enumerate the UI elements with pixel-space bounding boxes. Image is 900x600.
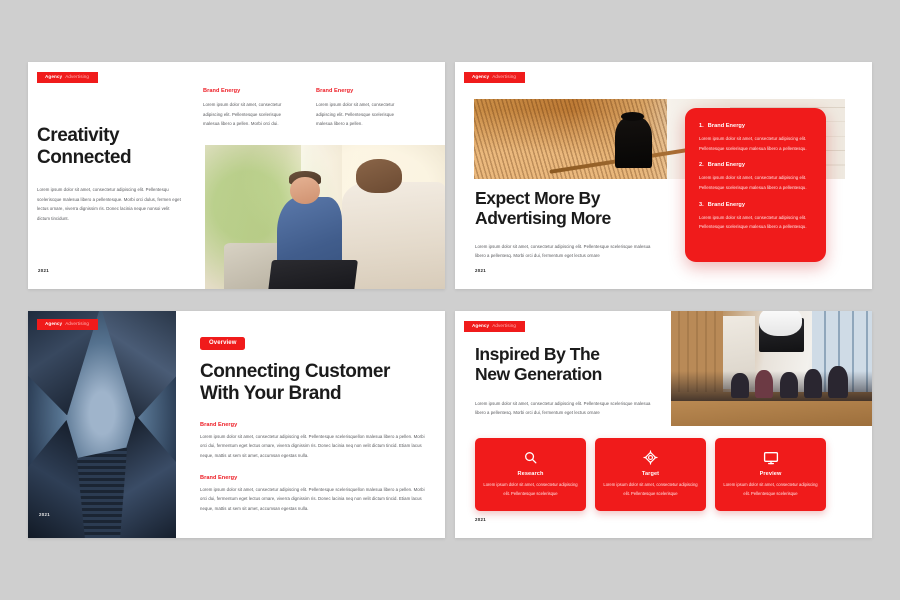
feature-tile-preview[interactable]: Preview Lorem ipsum dolor sit amet, cons…: [715, 438, 826, 511]
section-body-2: Lorem ipsum dolor sit amet, consectetur …: [200, 485, 430, 514]
slide-expect-more-by-advertising-more[interactable]: Agency Advertising Expect More By Advert…: [455, 62, 872, 289]
page-title-line-2: Advertising More: [475, 208, 675, 228]
brand-logo: Agency Advertising: [464, 72, 525, 83]
page-title-line-2: New Generation: [475, 364, 665, 384]
intro-paragraph: Lorem ipsum dolor sit amet, consectetur …: [475, 399, 653, 418]
feature-heading: Brand Energy: [708, 162, 745, 168]
slide-deck-preview-grid: Agency Advertising Creativity Connected …: [0, 0, 900, 600]
page-title-line-1: Inspired By The: [475, 344, 665, 364]
page-title-line-1: Expect More By: [475, 188, 675, 208]
tile-title: Research: [483, 471, 578, 477]
feature-item: 3. Brand Energy Lorem ipsum dolor sit am…: [699, 202, 812, 232]
tile-title: Preview: [723, 471, 818, 477]
year-mark: 2021: [475, 268, 486, 273]
content-section: Brand Energy Lorem ipsum dolor sit amet,…: [200, 475, 430, 514]
slide-creativity-connected[interactable]: Agency Advertising Creativity Connected …: [28, 62, 445, 289]
section-body-1: Lorem ipsum dolor sit amet, consectetur …: [200, 432, 430, 461]
page-title-line-2: With Your Brand: [200, 383, 430, 405]
feature-body: Lorem ipsum dolor sit amet, consectetur …: [699, 173, 812, 192]
year-mark: 2021: [475, 517, 486, 522]
intro-paragraph: Lorem ipsum dolor sit amet, consectetur …: [475, 242, 657, 261]
feature-heading: Brand Energy: [708, 123, 745, 129]
content-section: Brand Energy Lorem ipsum dolor sit amet,…: [200, 422, 430, 461]
tile-body: Lorem ipsum dolor sit amet, consectetur …: [483, 481, 578, 499]
column-body-2: Lorem ipsum dolor sit amet, consectetur …: [316, 100, 411, 129]
slide-photo: [671, 311, 872, 426]
page-title-line-2: Connected: [37, 147, 182, 169]
year-mark: 2021: [38, 268, 49, 273]
feature-tile-research[interactable]: Research Lorem ipsum dolor sit amet, con…: [475, 438, 586, 511]
page-title-line-1: Creativity: [37, 125, 182, 147]
brand-logo-secondary: Advertising: [492, 75, 516, 80]
tile-body: Lorem ipsum dolor sit amet, consectetur …: [723, 481, 818, 499]
slide-photo: [205, 145, 445, 289]
feature-heading: Brand Energy: [708, 202, 745, 208]
brand-logo-secondary: Advertising: [65, 322, 89, 327]
section-heading-1: Brand Energy: [200, 422, 430, 428]
feature-number: 2.: [699, 162, 704, 168]
monitor-icon: [723, 449, 818, 466]
column-body-1: Lorem ipsum dolor sit amet, consectetur …: [203, 100, 298, 129]
numbered-feature-card[interactable]: 1. Brand Energy Lorem ipsum dolor sit am…: [685, 108, 826, 262]
brand-logo: Agency Advertising: [464, 321, 525, 332]
target-icon: [603, 449, 698, 466]
feature-tile-group: Research Lorem ipsum dolor sit amet, con…: [475, 438, 826, 511]
page-title: Inspired By The New Generation: [475, 344, 665, 385]
brand-logo-secondary: Advertising: [65, 75, 89, 80]
intro-paragraph: Lorem ipsum dolor sit amet, consectetur …: [37, 185, 182, 224]
page-title: Creativity Connected: [37, 125, 182, 169]
brand-logo: Agency Advertising: [37, 72, 98, 83]
tile-body: Lorem ipsum dolor sit amet, consectetur …: [603, 481, 698, 499]
feature-item: 2. Brand Energy Lorem ipsum dolor sit am…: [699, 162, 812, 192]
feature-tile-target[interactable]: Target Lorem ipsum dolor sit amet, conse…: [595, 438, 706, 511]
brand-logo: Agency Advertising: [37, 319, 98, 330]
page-title-line-1: Connecting Customer: [200, 361, 430, 383]
year-mark: 2021: [39, 512, 50, 517]
feature-body: Lorem ipsum dolor sit amet, consectetur …: [699, 134, 812, 153]
page-title: Expect More By Advertising More: [475, 188, 675, 229]
section-heading-2: Brand Energy: [200, 475, 430, 481]
overview-badge[interactable]: Overview: [200, 337, 245, 350]
feature-item: 1. Brand Energy Lorem ipsum dolor sit am…: [699, 123, 812, 153]
feature-body: Lorem ipsum dolor sit amet, consectetur …: [699, 213, 812, 232]
column-heading-1: Brand Energy: [203, 88, 298, 94]
feature-number: 1.: [699, 123, 704, 129]
brand-logo-primary: Agency: [45, 322, 62, 327]
tile-title: Target: [603, 471, 698, 477]
slide-connecting-customer-with-your-brand[interactable]: Agency Advertising 2021 Overview Connect…: [28, 311, 445, 538]
search-icon: [483, 449, 578, 466]
feature-number: 3.: [699, 202, 704, 208]
brand-logo-secondary: Advertising: [492, 324, 516, 329]
brand-logo-primary: Agency: [472, 75, 489, 80]
brand-logo-primary: Agency: [45, 75, 62, 80]
slide-photo: [28, 311, 176, 538]
brand-logo-primary: Agency: [472, 324, 489, 329]
page-title: Connecting Customer With Your Brand: [200, 361, 430, 405]
column-heading-2: Brand Energy: [316, 88, 411, 94]
slide-inspired-by-the-new-generation[interactable]: Agency Advertising Inspired By The New G…: [455, 311, 872, 538]
